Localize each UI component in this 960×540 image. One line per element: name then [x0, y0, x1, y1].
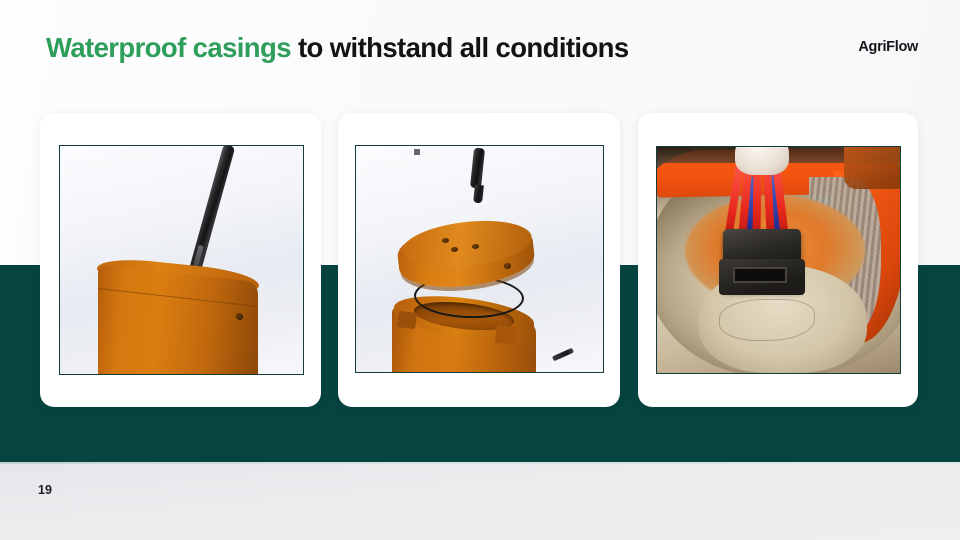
- cable-boot: [735, 146, 789, 175]
- page-number: 19: [38, 483, 52, 497]
- image-card-1[interactable]: [40, 113, 321, 407]
- casing-latch-right: [495, 325, 518, 345]
- slide-canvas: Waterproof casings to withstand all cond…: [0, 0, 960, 540]
- cad-render-sealed-casing-with-antenna: [59, 145, 304, 375]
- render-mark: [414, 149, 420, 155]
- page-title-highlight: Waterproof casings: [46, 32, 291, 63]
- background-object: [844, 146, 901, 189]
- page-title-rest: to withstand all conditions: [291, 32, 629, 63]
- band-hairline-divider: [0, 462, 960, 464]
- slide-header: Waterproof casings to withstand all cond…: [0, 0, 960, 100]
- photo-potted-connector-in-casing: [656, 146, 901, 374]
- brand-logo: AgriFlow: [858, 39, 918, 55]
- lid-screw: [504, 263, 511, 269]
- page-title: Waterproof casings to withstand all cond…: [46, 32, 629, 64]
- surface-marking: [719, 299, 815, 341]
- connector-slot: [733, 267, 787, 283]
- background-bottom-wash: [0, 462, 960, 540]
- cad-render-exploded-casing-with-oring: [355, 145, 604, 373]
- image-card-3[interactable]: [638, 113, 918, 407]
- image-card-2[interactable]: [338, 113, 620, 407]
- casing-screw: [236, 313, 243, 321]
- casing-latch-left: [397, 311, 417, 329]
